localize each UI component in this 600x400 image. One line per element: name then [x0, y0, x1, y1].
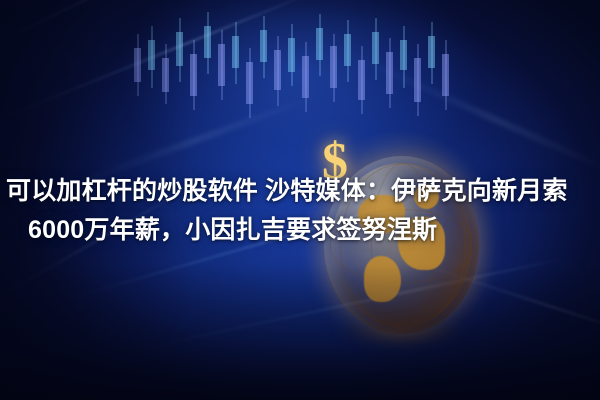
news-banner-image: $ 可以加杠杆的炒股软件 沙特媒体：伊萨克向新月索 6000万年薪，小因扎吉要求… — [0, 0, 600, 400]
headline-line-2: 6000万年薪，小因扎吉要求签努涅斯 — [6, 211, 594, 250]
headline-line-1: 可以加杠杆的炒股软件 沙特媒体：伊萨克向新月索 — [6, 172, 594, 211]
headline-text: 可以加杠杆的炒股软件 沙特媒体：伊萨克向新月索 6000万年薪，小因扎吉要求签努… — [0, 172, 600, 250]
